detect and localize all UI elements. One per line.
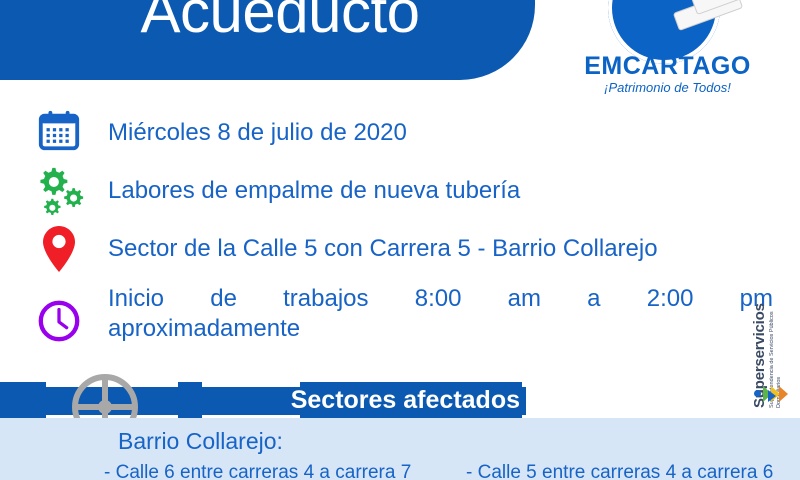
info-row-schedule-line1: Inicio de trabajos 8:00 am a 2:00 pm [108,284,773,314]
emcartago-logo: EMCARTAGO ¡Patrimonio de Todos! [560,0,775,102]
sectors-group-title: Barrio Collarejo: [118,428,283,455]
info-row-schedule-line2: aproximadamente [108,314,773,344]
location-pin-icon [36,224,98,280]
info-row-location: Sector de la Calle 5 con Carrera 5 - Bar… [36,224,776,280]
chevron-dot [754,390,761,397]
info-row-date: Miércoles 8 de julio de 2020 [36,108,776,164]
info-row-location-text: Sector de la Calle 5 con Carrera 5 - Bar… [108,234,773,264]
chevron-orange [779,386,788,402]
info-list: Miércoles 8 de julio de 2020 Labores de … [36,108,776,340]
info-row-work-text: Labores de empalme de nueva tubería [108,176,773,206]
info-row-date-text: Miércoles 8 de julio de 2020 [108,118,773,148]
sectors-banner-title: Sectores afectados [220,382,520,420]
sector-item-left: - Calle 6 entre carreras 4 a carrera 7 [104,462,411,480]
page-title: Acueducto [40,0,520,60]
clock-icon [36,298,98,354]
logo-tagline: ¡Patrimonio de Todos! [560,80,775,95]
sector-item-right: - Calle 5 entre carreras 4 a carrera 6 [466,462,773,480]
info-row-schedule: Inicio de trabajos 8:00 am a 2:00 pm apr… [36,282,776,338]
superservicios-watermark: Superservicios Superintendencia de Servi… [750,292,798,422]
gears-icon [36,166,98,222]
info-row-work: Labores de empalme de nueva tubería [36,166,776,222]
logo-name: EMCARTAGO [560,52,775,81]
valve-hub [98,400,112,414]
poster-canvas: Acueducto EMCARTAGO ¡Patrimonio de Todos… [0,0,800,480]
superservicios-chevron-icon [754,384,796,404]
chevron-blue [768,390,776,402]
calendar-icon [36,108,98,164]
